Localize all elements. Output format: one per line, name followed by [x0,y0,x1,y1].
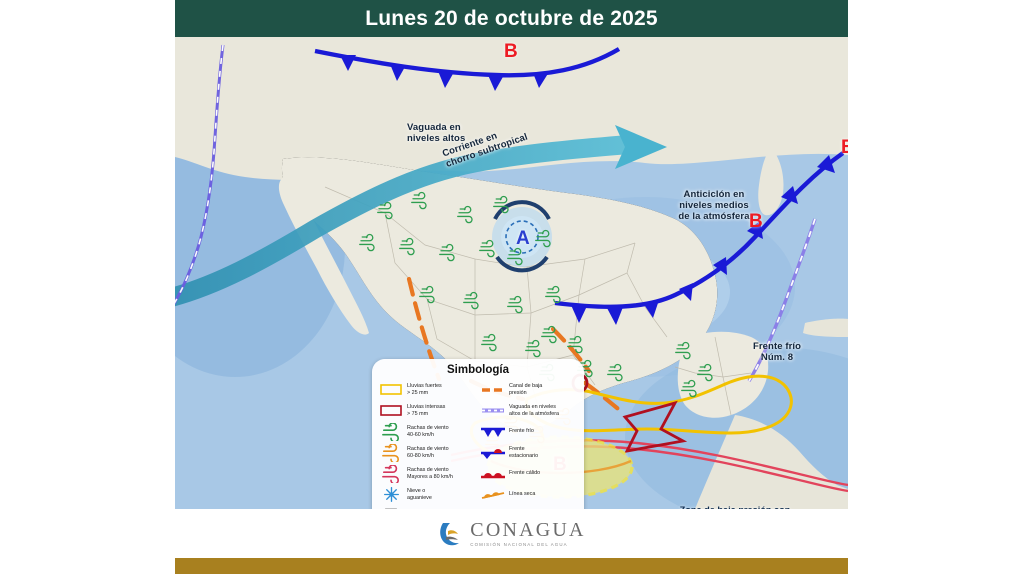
legend-label: Frente frío [509,428,534,435]
legend-panel[interactable]: Simbología Lluvias fuertes > 25 mm Lluvi… [372,359,584,509]
legend-label: Línea seca [509,491,535,498]
legend-item-rachas-40-60[interactable]: Rachas de viento 40-60 km/h [378,421,476,442]
conagua-subtitle: COMISIÓN NACIONAL DEL AGUA [470,542,567,547]
legend-label: Rachas de viento 40-60 km/h [407,425,449,438]
footer: CONAGUA COMISIÓN NACIONAL DEL AGUA [175,509,848,558]
warm-front-icon [480,464,506,483]
legend-label: Frente cálido [509,470,540,477]
legend-label: Nieve o aguanieve [407,488,432,501]
legend-label: Lluvias intensas > 75 mm [407,404,445,417]
legend-label: Rachas de viento Mayores a 80 km/h [407,467,453,480]
conagua-logo-icon [437,520,463,548]
legend-title: Simbología [378,364,578,376]
legend-item-frente-calido[interactable]: Frente cálido [480,463,578,484]
legend-label: Rachas de viento 60-80 km/h [407,446,449,459]
legend-label: Canal de baja presión [509,383,542,396]
dry-line-icon [480,485,506,504]
wind-gust-green-icon [378,422,404,441]
conagua-name: CONAGUA [470,520,585,540]
wind-gust-red-icon [378,464,404,483]
conagua-wordmark: CONAGUA COMISIÓN NACIONAL DEL AGUA [470,520,585,547]
wind-gust-orange-icon [378,443,404,462]
legend-label: Lluvias fuertes > 25 mm [407,383,442,396]
legend-item-rachas-60-80[interactable]: Rachas de viento 60-80 km/h [378,442,476,463]
stationary-front-icon [480,443,506,462]
legend-item-vaguada-niveles-altos[interactable]: Vaguada en niveles altos de la atmósfera [480,400,578,421]
legend-label: Vaguada en niveles altos de la atmósfera [509,404,559,417]
page-header: Lunes 20 de octubre de 2025 [175,0,848,37]
legend-left-column: Lluvias fuertes > 25 mm Lluvias intensas… [378,379,476,509]
chain-trough-icon [480,401,506,420]
legend-item-linea-seca[interactable]: Línea seca [480,484,578,505]
page-title: Lunes 20 de octubre de 2025 [365,7,658,31]
legend-label: Frente estacionario [509,446,538,459]
legend-item-canal-baja-presion[interactable]: Canal de baja presión [480,379,578,400]
legend-item-rachas-mayores-80[interactable]: Rachas de viento Mayores a 80 km/h [378,463,476,484]
legend-item-lluvias-fuertes[interactable]: Lluvias fuertes > 25 mm [378,379,476,400]
legend-item-frente-frio[interactable]: Frente frío [480,421,578,442]
legend-item-lluvias-intensas[interactable]: Lluvias intensas > 75 mm [378,400,476,421]
legend-right-column: Canal de baja presión Vaguada en niveles… [480,379,578,509]
weather-map[interactable]: Vaguada en niveles altos Corriente en ch… [175,37,848,509]
weather-map-page: Lunes 20 de octubre de 2025 [0,0,1024,576]
rain-heavy-box-icon [378,380,404,399]
dashed-orange-line-icon [480,380,506,399]
rain-intense-box-icon [378,401,404,420]
cold-front-icon [480,422,506,441]
snow-flake-icon [378,485,404,504]
legend-item-frente-estacionario[interactable]: Frente estacionario [480,442,578,463]
footer-gold-bar [175,558,848,574]
legend-item-nieve-aguanieve[interactable]: Nieve o aguanieve [378,484,476,505]
